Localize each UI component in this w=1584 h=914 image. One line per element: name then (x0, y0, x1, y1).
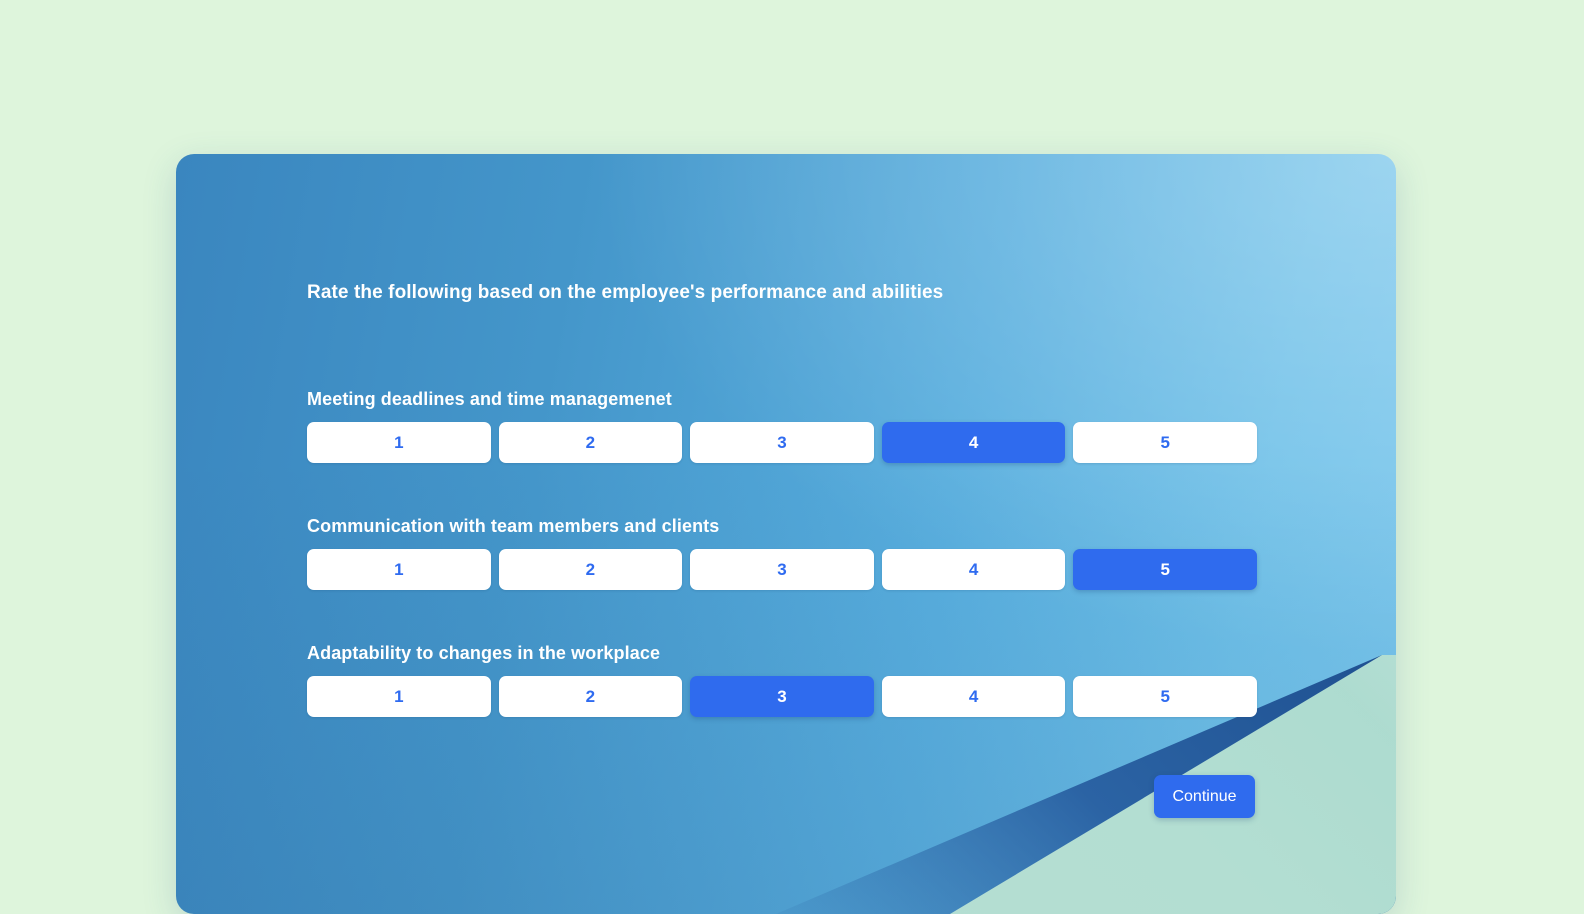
rating-option-1-4[interactable]: 4 (882, 422, 1066, 463)
rating-option-3-2[interactable]: 2 (499, 676, 683, 717)
question-label-1: Meeting deadlines and time managemenet (307, 389, 1257, 410)
rating-option-3-5[interactable]: 5 (1073, 676, 1257, 717)
rating-option-2-5[interactable]: 5 (1073, 549, 1257, 590)
rating-option-2-1[interactable]: 1 (307, 549, 491, 590)
rating-row-2: 1 2 3 4 5 (307, 549, 1257, 590)
rating-option-1-3[interactable]: 3 (690, 422, 874, 463)
question-block-3: Adaptability to changes in the workplace… (307, 643, 1257, 717)
rating-option-3-1[interactable]: 1 (307, 676, 491, 717)
rating-option-1-1[interactable]: 1 (307, 422, 491, 463)
survey-card: Rate the following based on the employee… (176, 154, 1396, 914)
card-content: Rate the following based on the employee… (176, 154, 1396, 914)
rating-row-3: 1 2 3 4 5 (307, 676, 1257, 717)
rating-row-1: 1 2 3 4 5 (307, 422, 1257, 463)
rating-option-1-2[interactable]: 2 (499, 422, 683, 463)
rating-option-3-3[interactable]: 3 (690, 676, 874, 717)
rating-option-3-4[interactable]: 4 (882, 676, 1066, 717)
question-block-2: Communication with team members and clie… (307, 516, 1257, 590)
rating-option-2-3[interactable]: 3 (690, 549, 874, 590)
page-root: Rate the following based on the employee… (0, 0, 1584, 900)
question-label-2: Communication with team members and clie… (307, 516, 1257, 537)
rating-option-2-2[interactable]: 2 (499, 549, 683, 590)
rating-option-2-4[interactable]: 4 (882, 549, 1066, 590)
continue-button[interactable]: Continue (1154, 775, 1255, 818)
rating-option-1-5[interactable]: 5 (1073, 422, 1257, 463)
question-label-3: Adaptability to changes in the workplace (307, 643, 1257, 664)
question-block-1: Meeting deadlines and time managemenet 1… (307, 389, 1257, 463)
form-heading: Rate the following based on the employee… (307, 282, 943, 304)
